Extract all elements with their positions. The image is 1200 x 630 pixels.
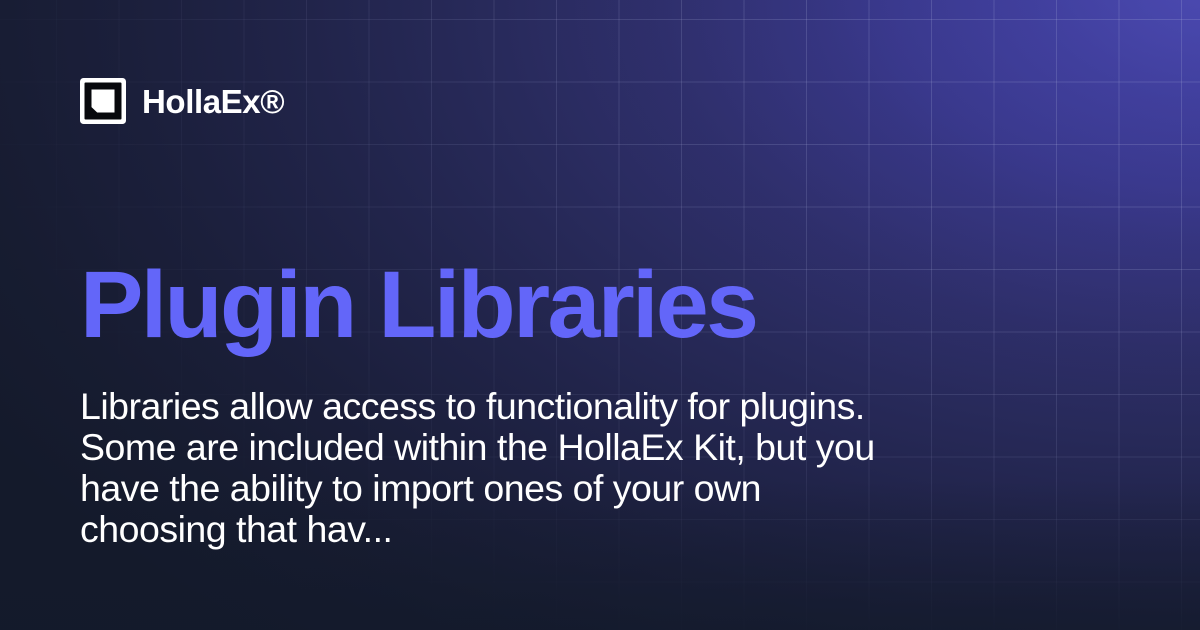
- brand-name-text: HollaEx®: [142, 85, 284, 118]
- page-description: Libraries allow access to functionality …: [80, 386, 880, 550]
- card-content: HollaEx® Plugin Libraries Libraries allo…: [0, 0, 1200, 630]
- og-image-card: HollaEx® Plugin Libraries Libraries allo…: [0, 0, 1200, 630]
- hollaex-logo-icon: [80, 78, 126, 124]
- brand-lockup: HollaEx®: [80, 78, 284, 124]
- page-title: Plugin Libraries: [80, 258, 756, 353]
